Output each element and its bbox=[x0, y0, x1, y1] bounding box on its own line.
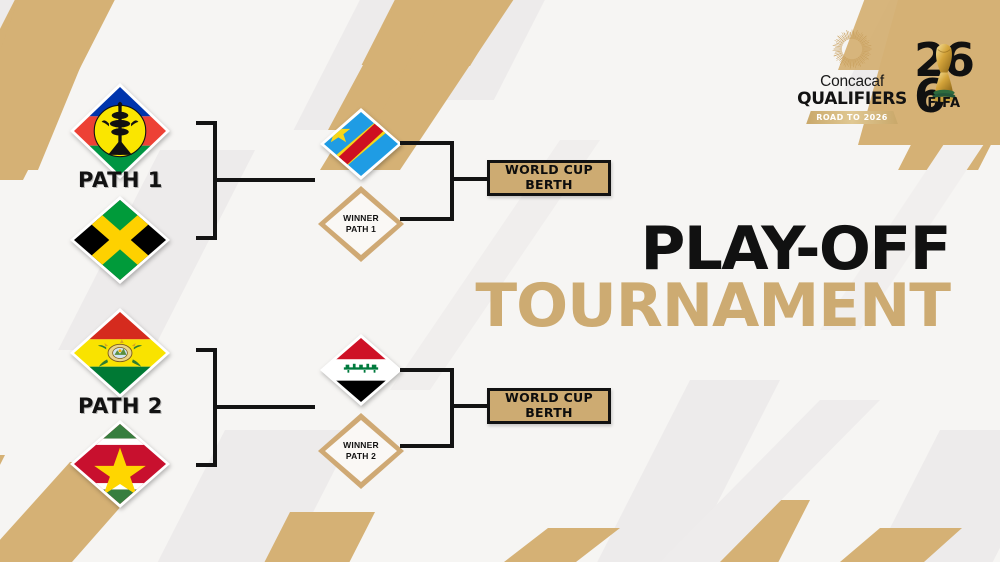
flag-suriname bbox=[70, 420, 170, 508]
bracket-line bbox=[400, 444, 454, 448]
bracket-line bbox=[450, 177, 492, 181]
winner-path-2-line2: PATH 2 bbox=[346, 451, 376, 462]
logo-lockup: Concacaf QUALIFIERS ROAD TO 2026 2 6 6 bbox=[797, 28, 975, 124]
flag-jamaica bbox=[70, 196, 170, 284]
world-cup-berth-2: WORLD CUP BERTH bbox=[487, 388, 611, 424]
bracket-line bbox=[450, 141, 454, 221]
playoff-bracket-graphic: PATH 1 WINNER PATH 1 WORLD CUP bbox=[0, 0, 1000, 562]
road-to-2026-banner: ROAD TO 2026 bbox=[806, 111, 898, 124]
headline-line-2: TOURNAMENT bbox=[475, 278, 950, 335]
flag-bolivia bbox=[70, 308, 170, 398]
winner-path-2-line1: WINNER bbox=[343, 440, 379, 451]
bracket-line bbox=[450, 404, 492, 408]
bracket-line bbox=[213, 178, 315, 182]
bracket-line bbox=[213, 405, 315, 409]
berth-1-line1: WORLD CUP bbox=[505, 163, 593, 178]
sunburst-icon bbox=[831, 28, 873, 70]
world-cup-berth-1: WORLD CUP BERTH bbox=[487, 160, 611, 196]
path-1-label: PATH 1 bbox=[78, 168, 163, 192]
flag-dr-congo bbox=[320, 108, 402, 180]
concacaf-qualifiers-logo: Concacaf QUALIFIERS ROAD TO 2026 bbox=[797, 28, 907, 124]
flag-new-caledonia bbox=[70, 83, 170, 179]
qualifiers-wordmark: QUALIFIERS bbox=[797, 89, 907, 109]
berth-2-line1: WORLD CUP bbox=[505, 391, 593, 406]
winner-path-1-placeholder: WINNER PATH 1 bbox=[318, 186, 404, 262]
fifa-wordmark: FIFA bbox=[913, 96, 975, 111]
bracket-line bbox=[400, 217, 454, 221]
headline-line-1: PLAY-OFF bbox=[475, 222, 950, 278]
fifa-26-logo: 2 6 6 bbox=[913, 36, 975, 116]
winner-path-2-placeholder: WINNER PATH 2 bbox=[318, 413, 404, 489]
bracket-line bbox=[400, 368, 454, 372]
winner-path-1-line2: PATH 1 bbox=[346, 224, 376, 235]
bracket-line bbox=[450, 368, 454, 448]
flag-iraq bbox=[320, 334, 402, 406]
berth-1-line2: BERTH bbox=[525, 178, 573, 193]
winner-path-1-line1: WINNER bbox=[343, 213, 379, 224]
berth-2-line2: BERTH bbox=[525, 406, 573, 421]
bracket-line bbox=[400, 141, 454, 145]
path-2-label: PATH 2 bbox=[78, 394, 163, 418]
headline: PLAY-OFF TOURNAMENT bbox=[480, 222, 945, 335]
